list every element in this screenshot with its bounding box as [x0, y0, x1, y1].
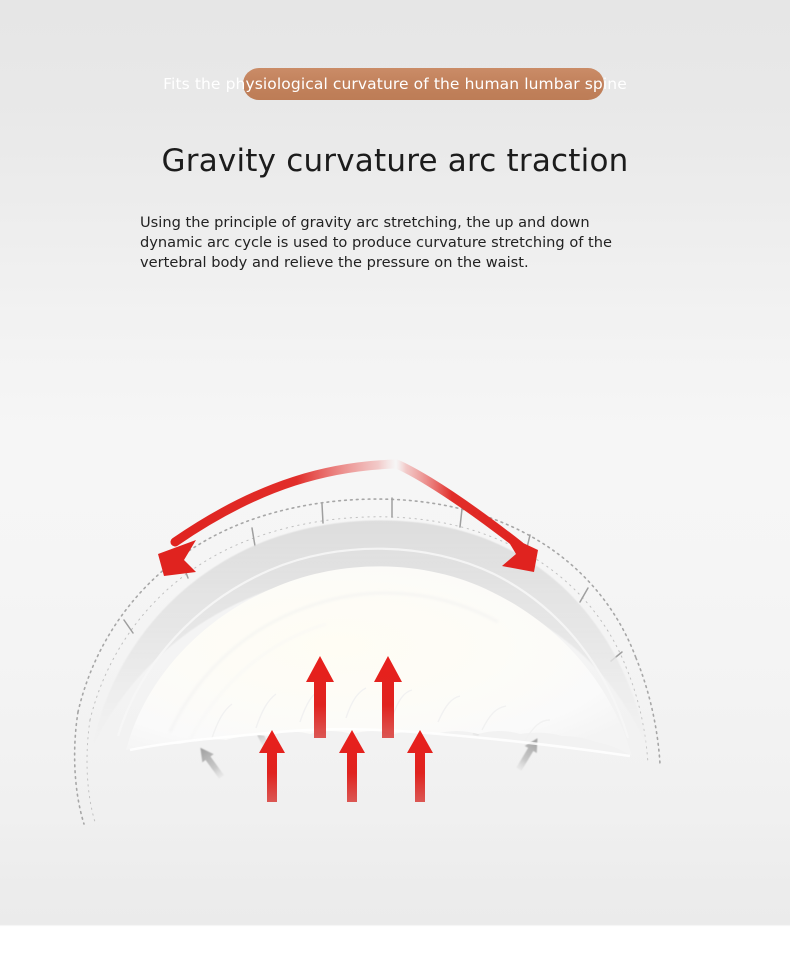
description-line-3: vertebral body and relieve the pressure …: [140, 253, 652, 273]
product-feature-panel: Fits the physiological curvature of the …: [0, 0, 790, 968]
description-paragraph: Using the principle of gravity arc stret…: [140, 213, 652, 273]
lumbar-traction-diagram: [0, 420, 790, 840]
description-line-1: Using the principle of gravity arc stret…: [140, 213, 652, 233]
banner-text: Fits the physiological curvature of the …: [0, 62, 790, 106]
page-title: Gravity curvature arc traction: [0, 143, 790, 179]
description-line-2: dynamic arc cycle is used to produce cur…: [140, 233, 652, 253]
red-arrow-short-center: [339, 730, 365, 802]
banner: Fits the physiological curvature of the …: [0, 62, 790, 106]
red-arrow-short-right: [407, 730, 433, 802]
